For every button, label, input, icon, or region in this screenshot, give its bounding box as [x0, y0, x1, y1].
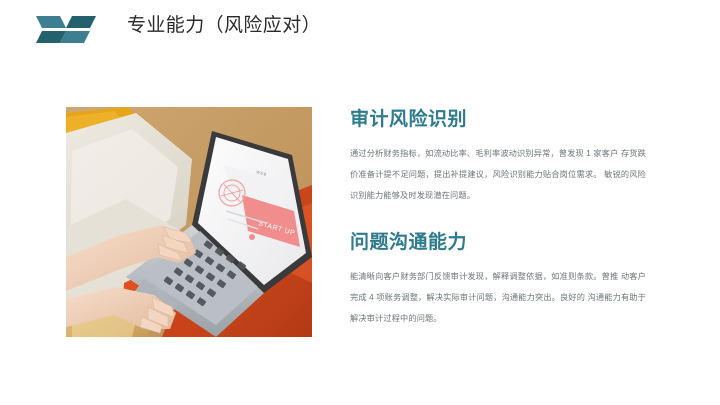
illustration-photo: START UP WEB [66, 107, 312, 337]
photo-canvas: START UP WEB [66, 107, 312, 337]
slide-root: 专业能力（风险应对） [0, 0, 720, 405]
content-block-communication: 问题沟通能力 能清晰向客户财务部门反馈审计发现，解释调整依据，如准则条款。曾推 … [350, 230, 646, 329]
body-line: 通过分析财务指标，如流动比率、毛利率波动识别异常，曾发现 1 家客户 [350, 149, 619, 158]
block-body-communication: 能清晰向客户财务部门反馈审计发现，解释调整依据，如准则条款。曾推 动客户完成 4… [350, 266, 646, 329]
block-title-audit-risk: 审计风险识别 [350, 107, 646, 133]
page-title: 专业能力（风险应对） [127, 11, 321, 41]
content-column: 审计风险识别 通过分析财务指标，如流动比率、毛利率波动识别异常，曾发现 1 家客… [350, 107, 646, 329]
block-body-audit-risk: 通过分析财务指标，如流动比率、毛利率波动识别异常，曾发现 1 家客户 存货跌价准… [350, 143, 646, 206]
content-block-audit-risk: 审计风险识别 通过分析财务指标，如流动比率、毛利率波动识别异常，曾发现 1 家客… [350, 107, 646, 206]
block-title-communication: 问题沟通能力 [350, 230, 646, 256]
slide-header: 专业能力（风险应对） [0, 0, 720, 56]
company-logo-icon [36, 15, 96, 45]
body-line: 能清晰向客户财务部门反馈审计发现，解释调整依据，如准则条款。曾推 [350, 272, 618, 281]
